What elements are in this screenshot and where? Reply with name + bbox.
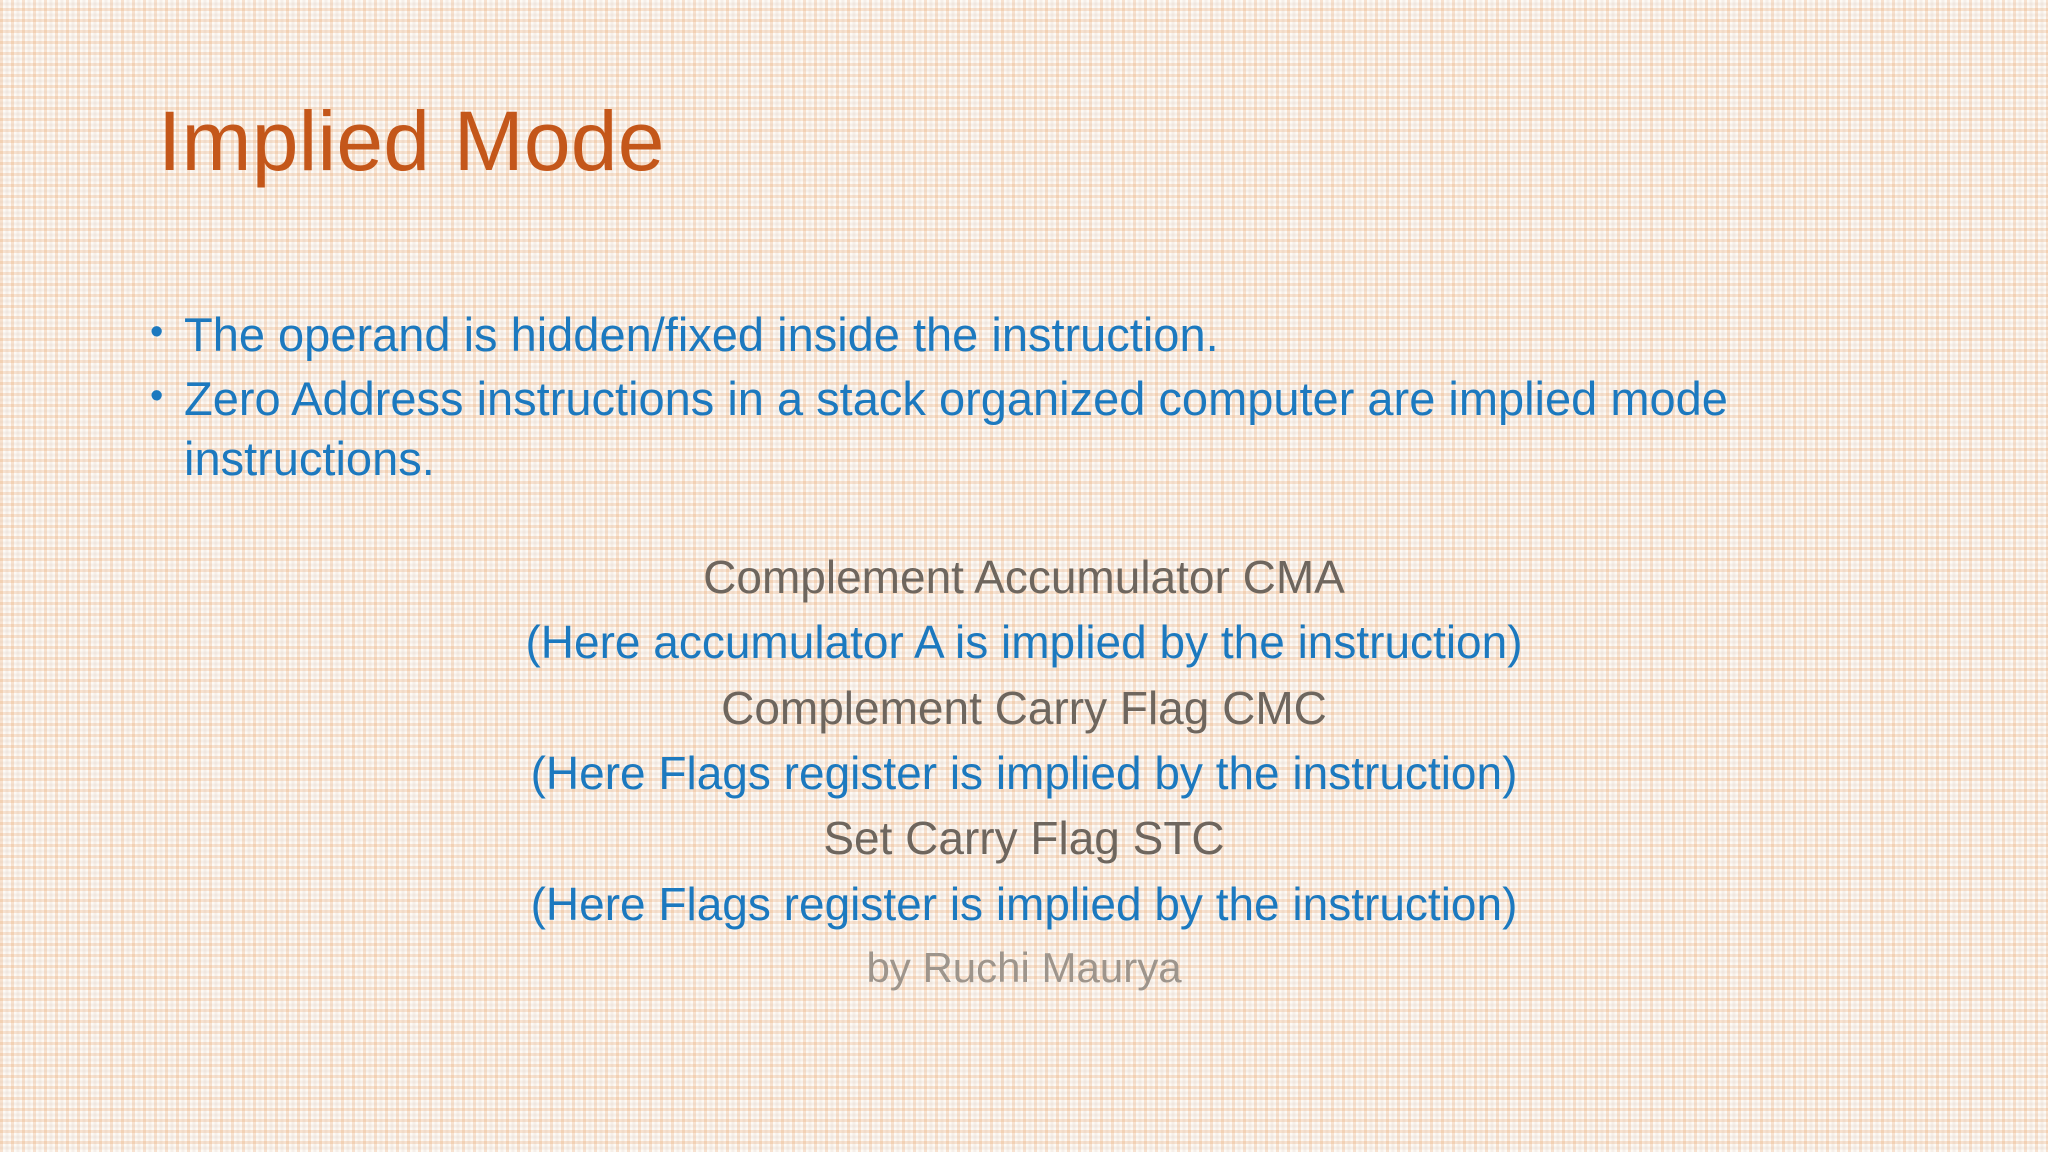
instruction-name-stc: Set Carry Flag STC (0, 806, 2048, 871)
bullet-marker-icon: • (150, 305, 184, 360)
author-credit: by Ruchi Maurya (0, 937, 2048, 998)
slide-content: Implied Mode • The operand is hidden/fix… (0, 0, 2048, 1152)
centered-text-block: Complement Accumulator CMA (Here accumul… (0, 545, 2048, 998)
instruction-note-stc: (Here Flags register is implied by the i… (0, 872, 2048, 937)
instruction-name-cma: Complement Accumulator CMA (0, 545, 2048, 610)
list-item: • The operand is hidden/fixed inside the… (150, 305, 1790, 365)
presentation-slide: Implied Mode • The operand is hidden/fix… (0, 0, 2048, 1152)
instruction-note-cmc: (Here Flags register is implied by the i… (0, 741, 2048, 806)
instruction-name-cmc: Complement Carry Flag CMC (0, 676, 2048, 741)
list-item: • Zero Address instructions in a stack o… (150, 369, 1790, 489)
bullet-list: • The operand is hidden/fixed inside the… (150, 305, 1790, 493)
bullet-text: The operand is hidden/fixed inside the i… (184, 305, 1790, 365)
slide-title: Implied Mode (158, 96, 665, 187)
bullet-text: Zero Address instructions in a stack org… (184, 369, 1790, 489)
instruction-note-cma: (Here accumulator A is implied by the in… (0, 610, 2048, 675)
bullet-marker-icon: • (150, 369, 184, 424)
